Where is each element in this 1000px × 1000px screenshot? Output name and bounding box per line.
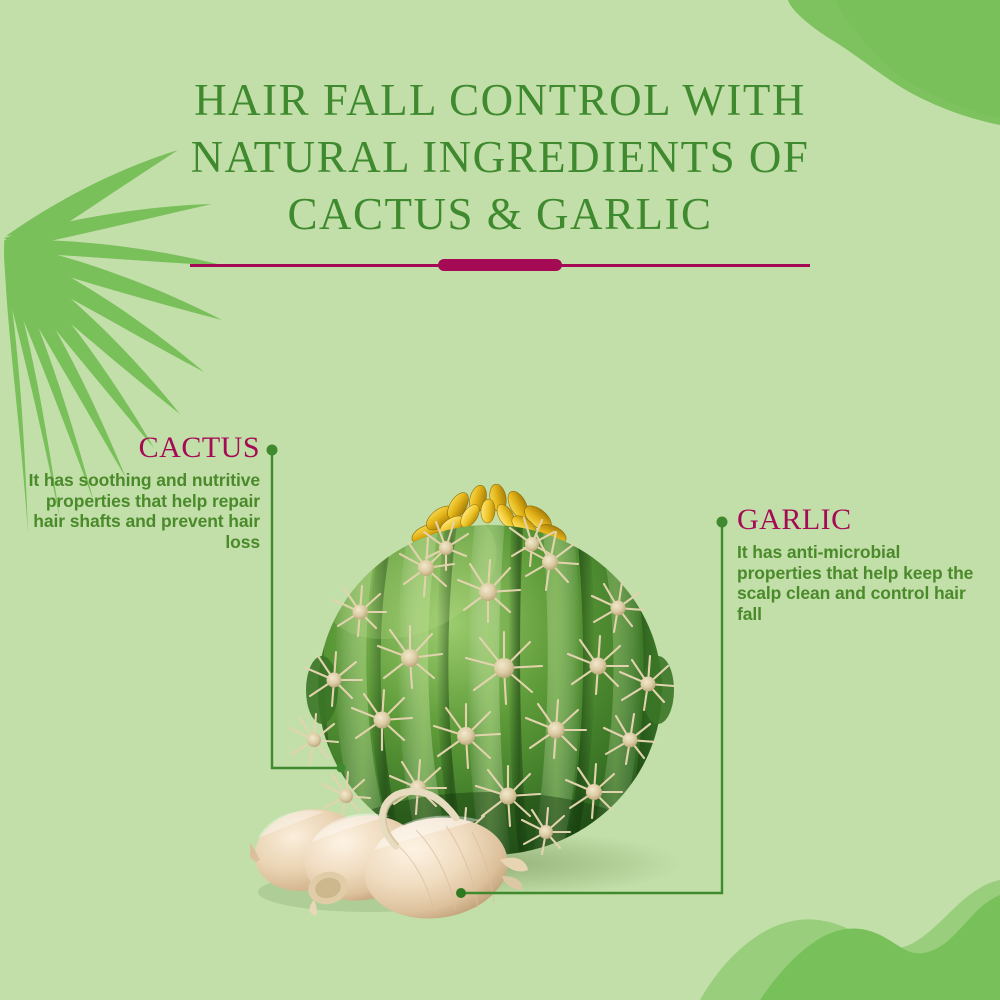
cactus-connector-dot xyxy=(267,445,278,456)
infographic-canvas: HAIR FALL CONTROL WITH NATURAL INGREDIEN… xyxy=(0,0,1000,1000)
garlic-connector-line xyxy=(461,522,722,893)
cactus-connector-line xyxy=(272,450,341,768)
cactus-connector-endpoint xyxy=(337,764,346,773)
callout-connectors xyxy=(0,0,1000,1000)
garlic-connector-dot xyxy=(717,517,728,528)
garlic-connector-endpoint xyxy=(456,888,466,898)
